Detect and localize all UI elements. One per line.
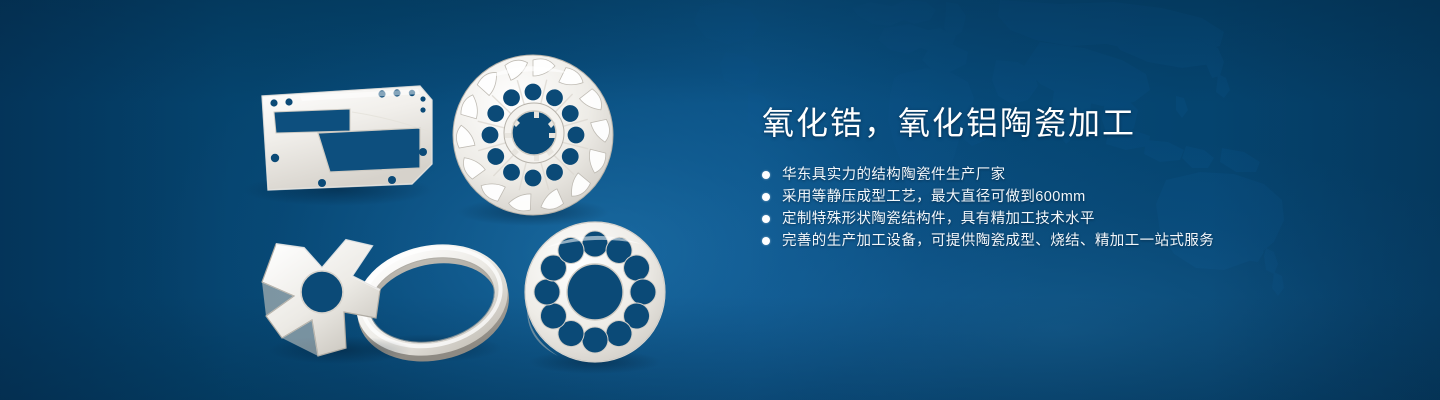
list-item: 华东具实力的结构陶瓷件生产厂家 (762, 164, 1382, 186)
feature-text: 华东具实力的结构陶瓷件生产厂家 (782, 164, 1006, 186)
feature-list: 华东具实力的结构陶瓷件生产厂家 采用等静压成型工艺，最大直径可做到600mm 定… (762, 164, 1382, 252)
list-item: 采用等静压成型工艺，最大直径可做到600mm (762, 186, 1382, 208)
page-title: 氧化锆，氧化铝陶瓷加工 (762, 104, 1382, 142)
banner-copy: 氧化锆，氧化铝陶瓷加工 华东具实力的结构陶瓷件生产厂家 采用等静压成型工艺，最大… (762, 104, 1382, 252)
bullet-dot-icon (762, 171, 770, 179)
bullet-dot-icon (762, 237, 770, 245)
feature-text: 定制特殊形状陶瓷结构件，具有精加工技术水平 (782, 208, 1095, 230)
ceramic-machined-plate (243, 86, 433, 206)
hero-banner: 氧化锆，氧化铝陶瓷加工 华东具实力的结构陶瓷件生产厂家 采用等静压成型工艺，最大… (0, 0, 1440, 400)
feature-text: 完善的生产加工设备，可提供陶瓷成型、烧结、精加工一站式服务 (782, 230, 1214, 252)
bullet-dot-icon (762, 193, 770, 201)
feature-text: 采用等静压成型工艺，最大直径可做到600mm (782, 186, 1086, 208)
list-item: 完善的生产加工设备，可提供陶瓷成型、烧结、精加工一站式服务 (762, 230, 1382, 252)
list-item: 定制特殊形状陶瓷结构件，具有精加工技术水平 (762, 208, 1382, 230)
ceramic-valve-plate (525, 222, 665, 374)
product-showcase (0, 0, 740, 400)
bullet-dot-icon (762, 215, 770, 223)
ceramic-impeller-disc (453, 55, 613, 226)
